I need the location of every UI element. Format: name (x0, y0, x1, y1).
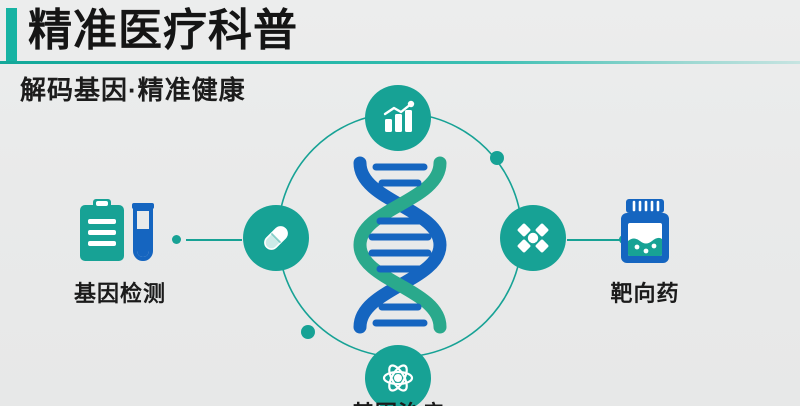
side-group-right: 靶向药 (560, 196, 730, 308)
atom-icon (380, 360, 416, 396)
clipboard-test-tube-icon (74, 197, 166, 267)
capsule-pill-icon (258, 220, 294, 256)
node-molecule[interactable] (500, 205, 566, 271)
node-analytics[interactable] (365, 85, 431, 151)
side-art-left (35, 196, 205, 268)
node-medicine[interactable] (243, 205, 309, 271)
side-label-right: 靶向药 (560, 276, 730, 308)
medicine-bottle-icon (606, 197, 684, 267)
bottom-caption: 基因治疗 (313, 396, 483, 406)
side-art-right (560, 196, 730, 268)
side-label-left: 基因检测 (35, 276, 205, 308)
ring-dot-upper-right (490, 151, 504, 165)
side-group-left: 基因检测 (35, 196, 205, 308)
molecule-cluster-icon (515, 220, 551, 256)
bar-chart-trend-icon (380, 100, 416, 136)
ring-dot-lower-left (301, 325, 315, 339)
dna-helix-icon (330, 145, 470, 345)
slide-canvas: 精准医疗科普 解码基因·精准健康 (0, 0, 800, 406)
